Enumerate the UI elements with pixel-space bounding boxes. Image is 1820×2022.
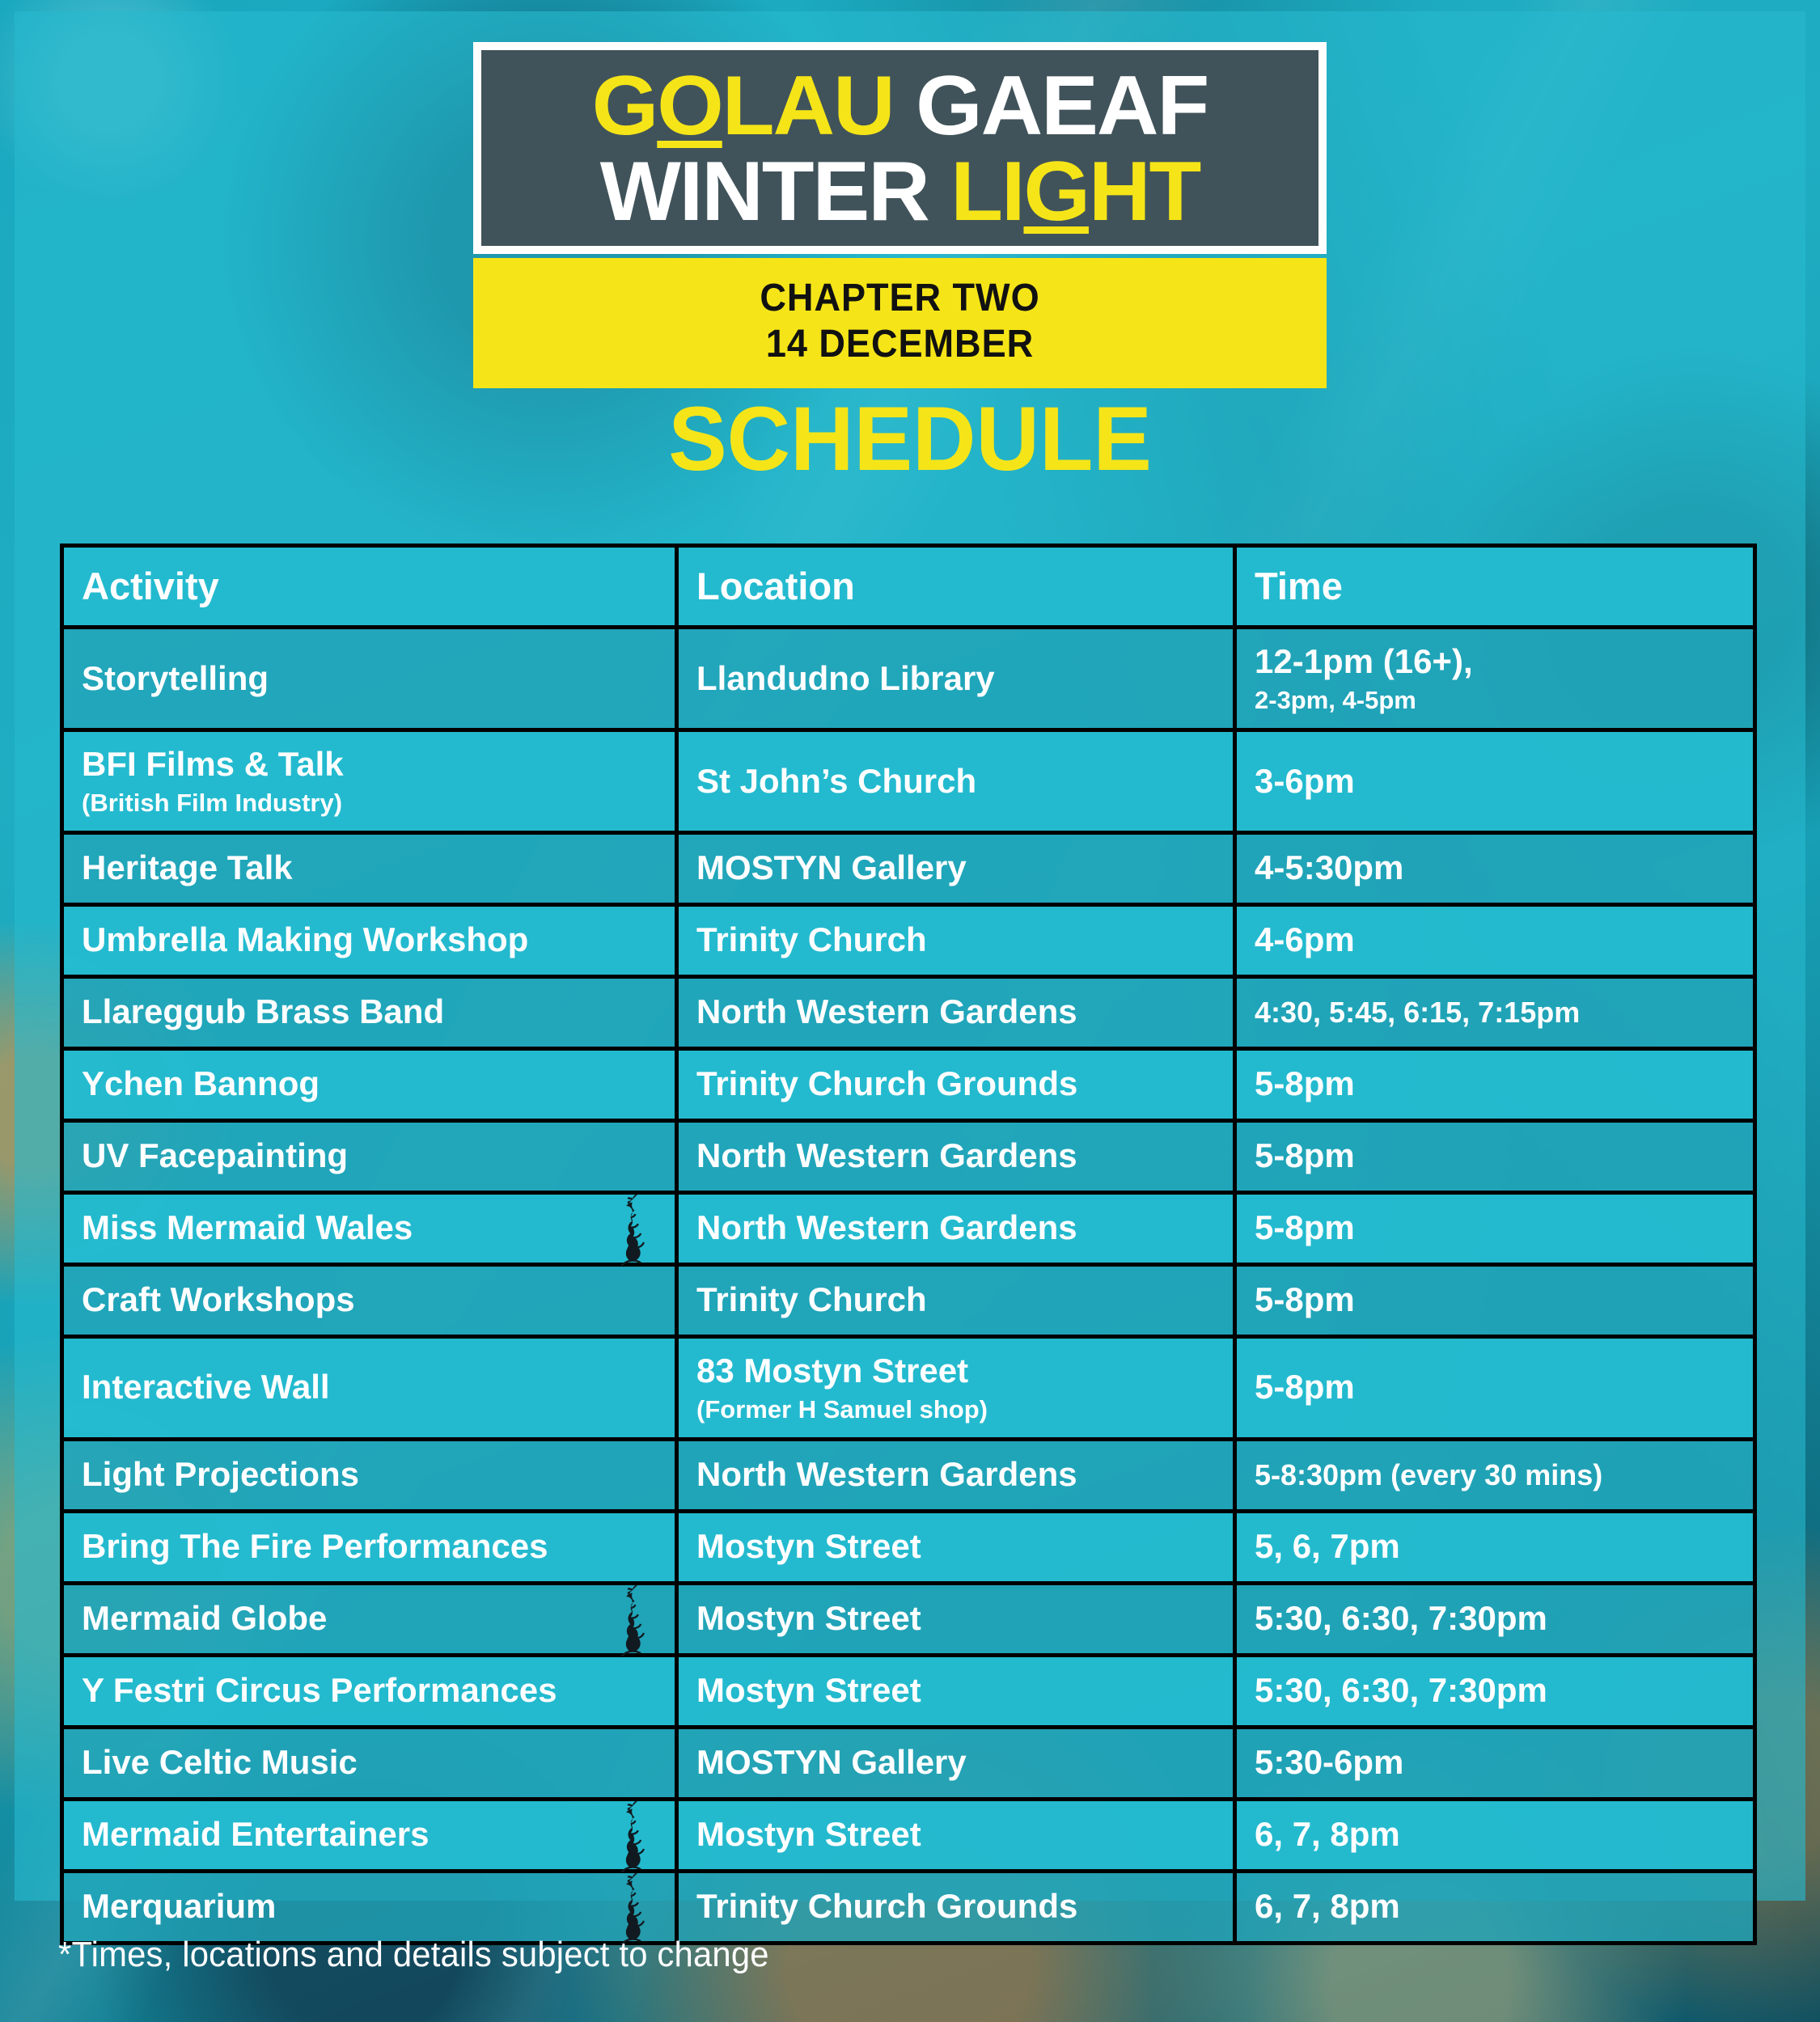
- logo-golau-rest: LAU: [722, 59, 894, 153]
- cell-activity: Heritage Talk: [64, 835, 679, 903]
- table-row: Mermaid EntertainersMostyn Street6, 7, 8…: [64, 1801, 1753, 1873]
- cell-time: 5-8pm: [1237, 1123, 1753, 1191]
- cell-location-text: Llandudno Library: [696, 659, 1215, 699]
- cell-time-text: 6, 7, 8pm: [1255, 1815, 1735, 1855]
- cell-activity-text: Live Celtic Music: [82, 1743, 657, 1783]
- cell-location: North Western Gardens: [679, 1123, 1237, 1191]
- cell-activity: Craft Workshops: [64, 1267, 679, 1335]
- chapter-banner: CHAPTER TWO 14 DECEMBER: [473, 258, 1327, 388]
- logo-gaeaf: GAEAF: [916, 59, 1208, 153]
- cell-activity-text: Umbrella Making Workshop: [82, 920, 657, 960]
- cell-time-text: 4:30, 5:45, 6:15, 7:15pm: [1255, 996, 1735, 1030]
- page-title: SCHEDULE: [28, 387, 1793, 491]
- cell-activity: Interactive Wall: [64, 1339, 679, 1437]
- table-row: Bring The Fire PerformancesMostyn Street…: [64, 1513, 1753, 1585]
- logo-light-li: LI: [950, 145, 1023, 239]
- cell-activity: Merquarium: [64, 1873, 679, 1941]
- column-header-location: Location: [679, 548, 1237, 625]
- cell-activity-text: BFI Films & Talk: [82, 745, 657, 785]
- chapter-label: CHAPTER TWO: [499, 276, 1302, 322]
- cell-activity-text: Interactive Wall: [82, 1368, 657, 1407]
- poster-background: GOLAU GAEAF WINTER LIGHT CHAPTER TWO 14 …: [0, 0, 1820, 2022]
- cell-activity-text: Y Festri Circus Performances: [82, 1671, 657, 1711]
- cell-time: 4-6pm: [1237, 907, 1753, 975]
- cell-location-text: Trinity Church Grounds: [696, 1887, 1215, 1927]
- table-row: Live Celtic MusicMOSTYN Gallery5:30-6pm: [64, 1729, 1753, 1801]
- cell-activity: Umbrella Making Workshop: [64, 907, 679, 975]
- cell-location-text: Mostyn Street: [696, 1599, 1215, 1639]
- cell-location-text: North Western Gardens: [696, 992, 1215, 1032]
- cell-location-text: 83 Mostyn Street: [696, 1352, 1215, 1391]
- cell-time-text: 3-6pm: [1255, 762, 1735, 802]
- event-logo: GOLAU GAEAF WINTER LIGHT CHAPTER TWO 14 …: [473, 42, 1327, 388]
- cell-location: Trinity Church Grounds: [679, 1873, 1237, 1941]
- cell-activity-text: Storytelling: [82, 659, 657, 699]
- cell-time-text: 5:30, 6:30, 7:30pm: [1255, 1599, 1735, 1639]
- cell-location-text: Mostyn Street: [696, 1527, 1215, 1567]
- cell-location: St John’s Church: [679, 732, 1237, 831]
- cell-activity-text: Heritage Talk: [82, 848, 657, 888]
- logo-box: GOLAU GAEAF WINTER LIGHT: [473, 42, 1327, 254]
- cell-activity: BFI Films & Talk(British Film Industry): [64, 732, 679, 831]
- cell-activity: Storytelling: [64, 629, 679, 728]
- cell-activity: Mermaid Entertainers: [64, 1801, 679, 1869]
- chapter-date: 14 DECEMBER: [499, 322, 1302, 368]
- table-row: Ychen BannogTrinity Church Grounds5-8pm: [64, 1051, 1753, 1123]
- cell-location: Trinity Church Grounds: [679, 1051, 1237, 1119]
- cell-time-subtext: 2-3pm, 4-5pm: [1255, 685, 1735, 715]
- poster-content: GOLAU GAEAF WINTER LIGHT CHAPTER TWO 14 …: [0, 0, 1820, 2022]
- cell-location-subtext: (Former H Samuel shop): [696, 1394, 1215, 1424]
- cell-location-text: St John’s Church: [696, 762, 1215, 802]
- cell-location-text: Trinity Church: [696, 1280, 1215, 1320]
- table-row: Light ProjectionsNorth Western Gardens5-…: [64, 1441, 1753, 1513]
- column-header-activity: Activity: [64, 548, 679, 625]
- cell-activity-text: Bring The Fire Performances: [82, 1527, 657, 1567]
- cell-time-text: 5-8pm: [1255, 1280, 1735, 1320]
- cell-activity: Light Projections: [64, 1441, 679, 1509]
- cell-activity: Mermaid Globe: [64, 1585, 679, 1653]
- cell-time-text: 5:30-6pm: [1255, 1743, 1735, 1783]
- cell-time-text: 12-1pm (16+),: [1255, 642, 1735, 682]
- footnote: *Times, locations and details subject to…: [58, 1935, 769, 1975]
- cell-activity-text: Mermaid Entertainers: [82, 1815, 657, 1855]
- logo-line-welsh: GOLAU GAEAF: [473, 63, 1327, 149]
- table-row: Heritage TalkMOSTYN Gallery4-5:30pm: [64, 835, 1753, 907]
- table-row: MerquariumTrinity Church Grounds6, 7, 8p…: [64, 1873, 1753, 1941]
- cell-location-text: North Western Gardens: [696, 1136, 1215, 1176]
- cell-activity: Llareggub Brass Band: [64, 979, 679, 1047]
- cell-activity: Live Celtic Music: [64, 1729, 679, 1797]
- cell-location: Mostyn Street: [679, 1513, 1237, 1581]
- cell-activity-text: Miss Mermaid Wales: [82, 1208, 657, 1248]
- cell-time: 4:30, 5:45, 6:15, 7:15pm: [1237, 979, 1753, 1047]
- cell-location-text: North Western Gardens: [696, 1208, 1215, 1248]
- table-row: Miss Mermaid WalesNorth Western Gardens5…: [64, 1195, 1753, 1267]
- cell-location-text: North Western Gardens: [696, 1455, 1215, 1495]
- table-row: BFI Films & Talk(British Film Industry)S…: [64, 732, 1753, 835]
- cell-time: 5-8pm: [1237, 1339, 1753, 1437]
- cell-location: Mostyn Street: [679, 1657, 1237, 1725]
- cell-time: 5:30, 6:30, 7:30pm: [1237, 1585, 1753, 1653]
- cell-time: 5:30, 6:30, 7:30pm: [1237, 1657, 1753, 1725]
- cell-location-text: Mostyn Street: [696, 1671, 1215, 1711]
- cell-location: North Western Gardens: [679, 1441, 1237, 1509]
- logo-golau-o: O: [657, 59, 722, 153]
- cell-location-text: Mostyn Street: [696, 1815, 1215, 1855]
- cell-time: 5-8pm: [1237, 1195, 1753, 1263]
- cell-activity-text: Llareggub Brass Band: [82, 992, 657, 1032]
- cell-location: Mostyn Street: [679, 1801, 1237, 1869]
- cell-time: 3-6pm: [1237, 732, 1753, 831]
- cell-activity: Miss Mermaid Wales: [64, 1195, 679, 1263]
- cell-location-text: MOSTYN Gallery: [696, 1743, 1215, 1783]
- cell-activity-text: Light Projections: [82, 1455, 657, 1495]
- logo-winter: WINTER: [600, 145, 929, 239]
- cell-activity-text: Mermaid Globe: [82, 1599, 657, 1639]
- cell-location-text: Trinity Church: [696, 920, 1215, 960]
- cell-location: Mostyn Street: [679, 1585, 1237, 1653]
- schedule-table: Activity Location Time StorytellingLland…: [60, 544, 1757, 1945]
- logo-light-g: G: [1023, 145, 1088, 239]
- cell-time: 12-1pm (16+),2-3pm, 4-5pm: [1237, 629, 1753, 728]
- cell-location: North Western Gardens: [679, 1195, 1237, 1263]
- cell-time-text: 5, 6, 7pm: [1255, 1527, 1735, 1567]
- cell-time-text: 5-8pm: [1255, 1208, 1735, 1248]
- cell-location: Trinity Church: [679, 907, 1237, 975]
- logo-line-english: WINTER LIGHT: [473, 149, 1327, 235]
- table-row: StorytellingLlandudno Library12-1pm (16+…: [64, 629, 1753, 732]
- cell-time-text: 5-8pm: [1255, 1136, 1735, 1176]
- logo-light-ht: HT: [1089, 145, 1200, 239]
- cell-time: 5:30-6pm: [1237, 1729, 1753, 1797]
- cell-location: North Western Gardens: [679, 979, 1237, 1047]
- cell-time: 6, 7, 8pm: [1237, 1801, 1753, 1869]
- cell-activity-text: Craft Workshops: [82, 1280, 657, 1320]
- cell-time-text: 5-8pm: [1255, 1368, 1735, 1407]
- cell-location: Llandudno Library: [679, 629, 1237, 728]
- cell-activity: Ychen Bannog: [64, 1051, 679, 1119]
- table-row: Craft WorkshopsTrinity Church5-8pm: [64, 1267, 1753, 1339]
- cell-time-text: 4-5:30pm: [1255, 848, 1735, 888]
- cell-time: 5-8pm: [1237, 1051, 1753, 1119]
- cell-time-text: 5:30, 6:30, 7:30pm: [1255, 1671, 1735, 1711]
- table-row: Y Festri Circus PerformancesMostyn Stree…: [64, 1657, 1753, 1729]
- cell-activity-text: UV Facepainting: [82, 1136, 657, 1176]
- cell-activity-text: Ychen Bannog: [82, 1064, 657, 1104]
- cell-time-text: 5-8:30pm (every 30 mins): [1255, 1458, 1735, 1492]
- table-row: Llareggub Brass BandNorth Western Garden…: [64, 979, 1753, 1051]
- cell-time: 5-8:30pm (every 30 mins): [1237, 1441, 1753, 1509]
- column-header-time: Time: [1237, 548, 1753, 625]
- cell-location: 83 Mostyn Street(Former H Samuel shop): [679, 1339, 1237, 1437]
- table-header-row: Activity Location Time: [64, 548, 1753, 629]
- cell-location: MOSTYN Gallery: [679, 835, 1237, 903]
- cell-activity: Y Festri Circus Performances: [64, 1657, 679, 1725]
- cell-location: MOSTYN Gallery: [679, 1729, 1237, 1797]
- cell-location: Trinity Church: [679, 1267, 1237, 1335]
- table-row: Interactive Wall83 Mostyn Street(Former …: [64, 1339, 1753, 1441]
- cell-time: 5, 6, 7pm: [1237, 1513, 1753, 1581]
- cell-activity: Bring The Fire Performances: [64, 1513, 679, 1581]
- cell-location-text: Trinity Church Grounds: [696, 1064, 1215, 1104]
- cell-activity: UV Facepainting: [64, 1123, 679, 1191]
- table-row: Mermaid GlobeMostyn Street5:30, 6:30, 7:…: [64, 1585, 1753, 1657]
- cell-location-text: MOSTYN Gallery: [696, 848, 1215, 888]
- cell-time: 4-5:30pm: [1237, 835, 1753, 903]
- cell-time-text: 6, 7, 8pm: [1255, 1887, 1735, 1927]
- table-row: Umbrella Making WorkshopTrinity Church4-…: [64, 907, 1753, 979]
- cell-time: 5-8pm: [1237, 1267, 1753, 1335]
- logo-golau-g: G: [592, 59, 657, 153]
- cell-time: 6, 7, 8pm: [1237, 1873, 1753, 1941]
- cell-time-text: 4-6pm: [1255, 920, 1735, 960]
- cell-activity-subtext: (British Film Industry): [82, 788, 657, 818]
- cell-activity-text: Merquarium: [82, 1887, 657, 1927]
- table-row: UV FacepaintingNorth Western Gardens5-8p…: [64, 1123, 1753, 1195]
- cell-time-text: 5-8pm: [1255, 1064, 1735, 1104]
